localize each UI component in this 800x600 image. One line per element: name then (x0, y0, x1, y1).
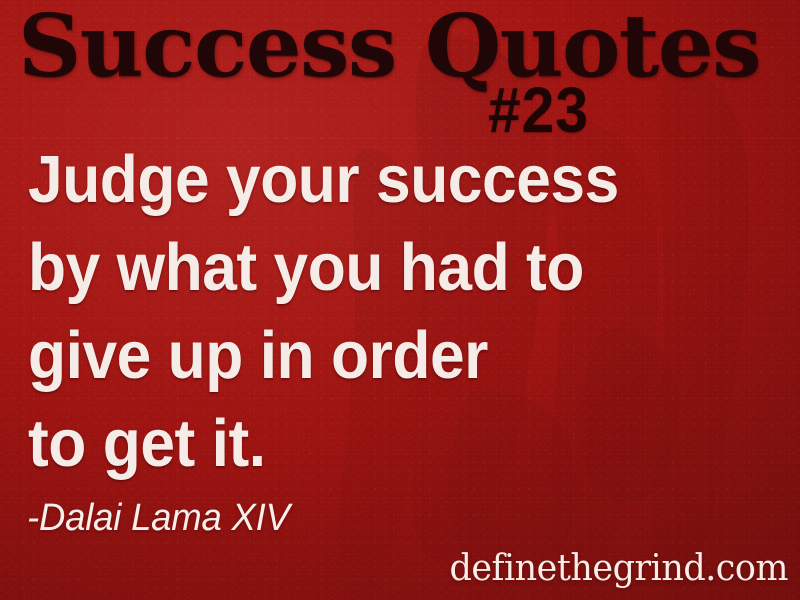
quote-line-3: give up in order (28, 312, 727, 400)
quote-poster: Success Quotes #23 Judge your success by… (0, 0, 800, 600)
site-url-watermark: definethegrind.com (449, 551, 788, 587)
issue-number-badge: #23 (488, 78, 589, 142)
quote-line-4: to get it. (28, 400, 727, 488)
quote-attribution: -Dalai Lama XIV (27, 499, 290, 537)
poster-title: Success Quotes (18, 4, 800, 90)
quote-line-1: Judge your success (28, 136, 727, 224)
quote-text-block: Judge your success by what you had to gi… (28, 136, 780, 488)
quote-line-2: by what you had to (28, 224, 727, 312)
